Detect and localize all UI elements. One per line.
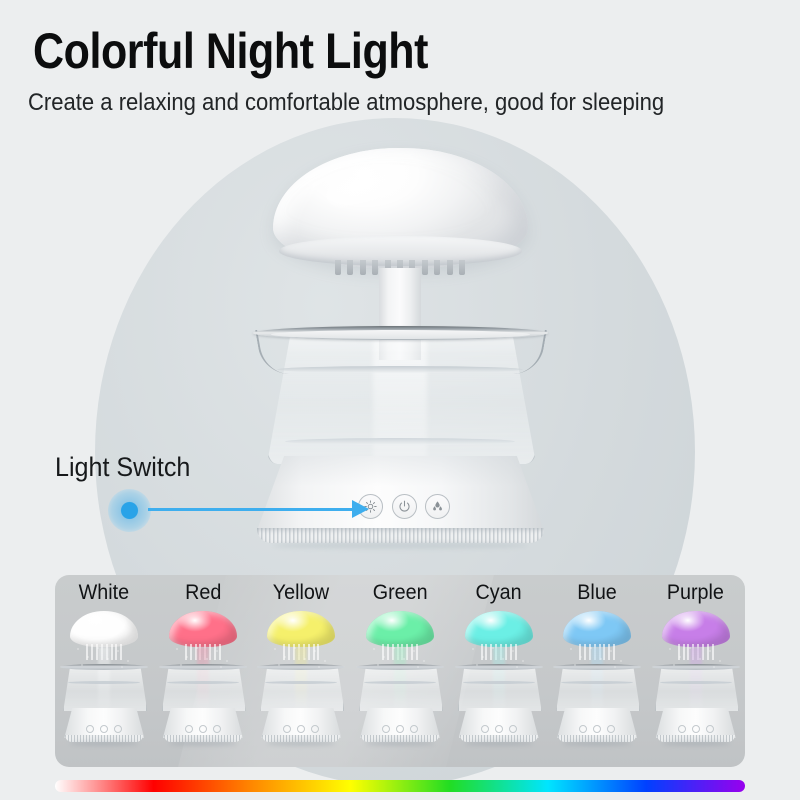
mini-rain-droplets xyxy=(171,645,235,671)
mini-mushroom-cap xyxy=(465,611,533,647)
mini-drop-shadow xyxy=(169,741,237,746)
color-swatch[interactable]: Yellow xyxy=(252,575,351,767)
color-swatch-label: Blue xyxy=(577,581,617,605)
mist-icon xyxy=(431,500,444,513)
base-vent-grille xyxy=(257,528,544,543)
mini-base xyxy=(557,708,637,738)
mini-control-dots xyxy=(86,725,122,732)
glass-water-tank xyxy=(253,322,548,464)
product-marketing-image: Colorful Night Light Create a relaxing a… xyxy=(0,0,800,800)
light-switch-indicator-dot xyxy=(108,489,151,532)
color-swatch-label: Red xyxy=(185,581,221,605)
mini-rain-droplets xyxy=(72,645,136,671)
color-swatch[interactable]: Purple xyxy=(646,575,745,767)
mini-water-line xyxy=(463,681,535,684)
mini-water-line xyxy=(68,681,140,684)
color-swatch[interactable]: Red xyxy=(154,575,253,767)
color-swatch[interactable]: Blue xyxy=(548,575,647,767)
mini-humidifier xyxy=(157,607,249,757)
mini-drop-shadow xyxy=(70,741,138,746)
color-swatch-label: White xyxy=(79,581,129,605)
mini-water-line xyxy=(561,681,633,684)
mist-button[interactable] xyxy=(425,494,450,519)
mini-base xyxy=(163,708,243,738)
mini-humidifier xyxy=(255,607,347,757)
callout-leader-line xyxy=(148,508,363,511)
mini-rain-droplets xyxy=(269,645,333,671)
mini-humidifier xyxy=(354,607,446,757)
mini-base xyxy=(64,708,144,738)
mini-drop-shadow xyxy=(563,741,631,746)
hero-product-humidifier xyxy=(245,140,555,570)
mini-control-dots xyxy=(678,725,714,732)
water-level-line-upper xyxy=(277,366,523,373)
mini-mushroom-cap xyxy=(366,611,434,647)
mini-control-dots xyxy=(481,725,517,732)
mini-humidifier xyxy=(551,607,643,757)
color-swatch[interactable]: Cyan xyxy=(449,575,548,767)
mini-water-tank xyxy=(556,667,640,711)
mini-humidifier xyxy=(453,607,545,757)
mini-water-tank xyxy=(260,667,344,711)
mini-water-tank xyxy=(458,667,542,711)
mini-control-dots xyxy=(382,725,418,732)
mini-drop-shadow xyxy=(662,741,730,746)
mini-drop-shadow xyxy=(366,741,434,746)
water-level-line-lower xyxy=(285,438,515,445)
color-swatch-panel: WhiteRedYellowGreenCyanBluePurple xyxy=(55,575,745,767)
mini-humidifier xyxy=(58,607,150,757)
mini-water-tank xyxy=(359,667,443,711)
power-icon xyxy=(398,500,411,513)
light-switch-label: Light Switch xyxy=(55,452,190,483)
color-swatch-label: Purple xyxy=(667,581,724,605)
mini-mushroom-cap xyxy=(70,611,138,647)
mini-base xyxy=(261,708,341,738)
mini-mushroom-cap xyxy=(563,611,631,647)
mini-drop-shadow xyxy=(465,741,533,746)
mini-mushroom-cap xyxy=(169,611,237,647)
mini-rain-droplets xyxy=(368,645,432,671)
mini-base xyxy=(459,708,539,738)
color-swatch-label: Green xyxy=(373,581,428,605)
mini-control-dots xyxy=(579,725,615,732)
mini-base xyxy=(656,708,736,738)
control-button-group xyxy=(358,494,450,518)
mini-control-dots xyxy=(283,725,319,732)
mini-rain-droplets xyxy=(467,645,531,671)
mini-mushroom-cap xyxy=(662,611,730,647)
page-subtitle: Create a relaxing and comfortable atmosp… xyxy=(28,88,664,118)
mini-rain-droplets xyxy=(565,645,629,671)
mini-water-tank xyxy=(162,667,246,711)
color-swatch-label: Cyan xyxy=(476,581,522,605)
tank-rim-inner xyxy=(271,330,530,339)
base-drop-shadow xyxy=(273,542,528,549)
power-button[interactable] xyxy=(392,494,417,519)
color-swatch-row: WhiteRedYellowGreenCyanBluePurple xyxy=(55,575,745,767)
mini-humidifier xyxy=(650,607,742,757)
mini-water-line xyxy=(167,681,239,684)
rainbow-gradient-bar xyxy=(55,780,745,792)
device-base xyxy=(255,456,546,548)
mini-control-dots xyxy=(185,725,221,732)
mini-mushroom-cap xyxy=(267,611,335,647)
mini-water-line xyxy=(265,681,337,684)
mini-water-tank xyxy=(63,667,147,711)
mini-water-tank xyxy=(655,667,739,711)
color-swatch-label: Yellow xyxy=(273,581,329,605)
color-swatch[interactable]: White xyxy=(55,575,154,767)
color-swatch[interactable]: Green xyxy=(351,575,450,767)
mini-water-line xyxy=(364,681,436,684)
cap-highlight xyxy=(321,154,420,218)
mini-water-line xyxy=(660,681,732,684)
callout-arrow-icon xyxy=(352,500,369,518)
mini-rain-droplets xyxy=(664,645,728,671)
mini-drop-shadow xyxy=(267,741,335,746)
mini-base xyxy=(360,708,440,738)
page-title: Colorful Night Light xyxy=(33,22,428,80)
